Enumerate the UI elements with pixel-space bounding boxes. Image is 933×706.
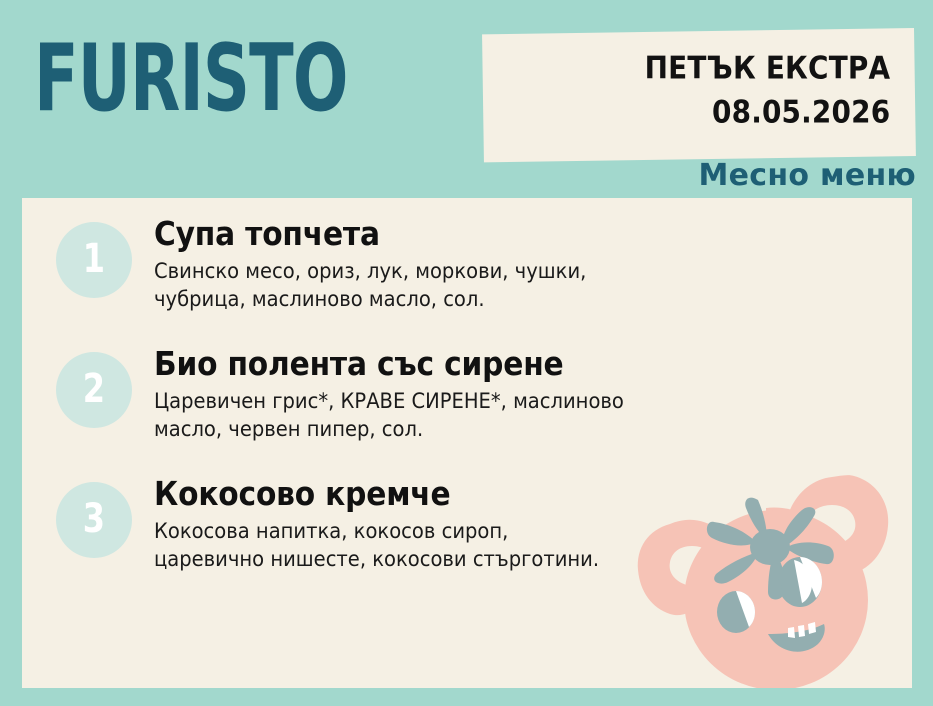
menu-item-description: Царевичен грис*, КРАВЕ СИРЕНЕ*, маслинов… [154, 387, 624, 443]
menu-item-text: Супа топчета Свинско месо, ориз, лук, мо… [154, 216, 619, 313]
menu-panel: 1 Супа топчета Свинско месо, ориз, лук, … [22, 198, 912, 688]
menu-item: 2 Био полента със сирене Царевичен грис*… [22, 346, 912, 443]
menu-item-number-badge: 2 [56, 352, 132, 428]
menu-item-title: Супа топчета [154, 216, 572, 253]
menu-item-number-badge: 3 [56, 482, 132, 558]
menu-item-title: Кокосово кремче [154, 476, 585, 513]
menu-item-description: Кокосова напитка, кокосов сироп, царевич… [154, 517, 599, 573]
date-card-line-2: 08.05.2026 [645, 90, 891, 134]
menu-items-list: 1 Супа топчета Свинско месо, ориз, лук, … [22, 198, 912, 574]
menu-item-number: 1 [83, 239, 105, 279]
menu-item-number: 3 [83, 499, 105, 539]
menu-item-description: Свинско месо, ориз, лук, моркови, чушки,… [154, 257, 586, 313]
menu-item-text: Био полента със сирене Царевичен грис*, … [154, 346, 659, 443]
date-card-line-1: ПЕТЪК ЕКСТРА [645, 46, 891, 90]
date-card: ПЕТЪК ЕКСТРА 08.05.2026 [482, 28, 916, 162]
category-label: Месно меню [698, 158, 916, 193]
menu-item-text: Кокосово кремче Кокосова напитка, кокосо… [154, 476, 633, 573]
poster-header: FURISTO ПЕТЪК ЕКСТРА 08.05.2026 Месно ме… [0, 0, 933, 198]
brand-logo: FURISTO [34, 32, 348, 125]
menu-poster: FURISTO ПЕТЪК ЕКСТРА 08.05.2026 Месно ме… [0, 0, 933, 706]
date-card-text: ПЕТЪК ЕКСТРА 08.05.2026 [617, 46, 890, 134]
menu-item-number: 2 [83, 369, 105, 409]
menu-item: 3 Кокосово кремче Кокосова напитка, коко… [22, 476, 912, 573]
menu-item-title: Био полента със сирене [154, 346, 609, 383]
menu-item-number-badge: 1 [56, 222, 132, 298]
menu-item: 1 Супа топчета Свинско месо, ориз, лук, … [22, 216, 912, 313]
